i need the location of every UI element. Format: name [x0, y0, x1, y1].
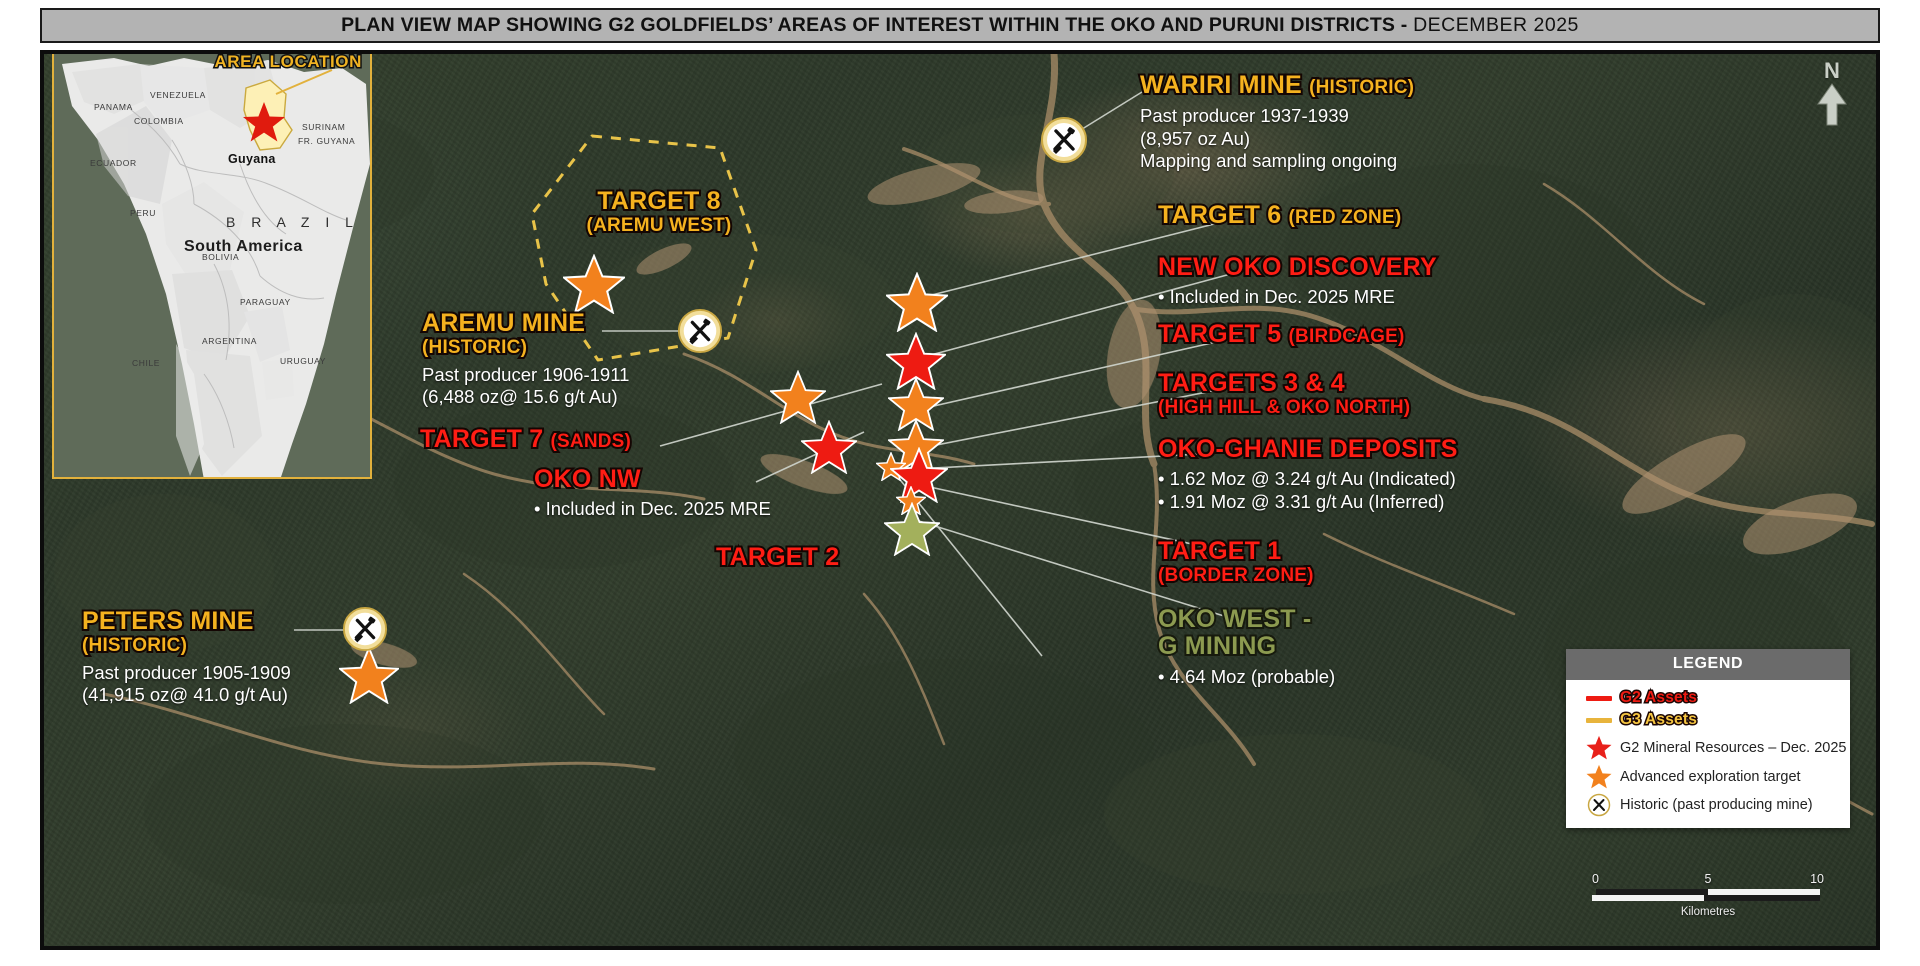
callout-okowest-title-l1: OKO WEST - [1158, 606, 1335, 632]
inset-heading: AREA LOCATION [214, 52, 362, 72]
inset-label-guyana: Guyana [228, 152, 276, 166]
callout-target-2: TARGET 2 [716, 544, 839, 570]
legend-item-historic-mine[interactable]: Historic (past producing mine) [1578, 793, 1838, 817]
callout-oko-nw: OKO NW • Included in Dec. 2025 MRE [534, 466, 771, 521]
scale-bar-bars [1592, 889, 1824, 903]
inset-basemap [54, 50, 370, 477]
inset-country-fr-guyana: FR. GUYANA [298, 136, 355, 146]
callout-oko-ghanie-deposits: OKO-GHANIE DEPOSITS • 1.62 Moz @ 3.24 g/… [1158, 436, 1458, 513]
callout-targets-3-and-4: TARGETS 3 & 4 (HIGH HILL & OKO NORTH) [1158, 370, 1410, 418]
callout-target5-title: TARGET 5 [1158, 320, 1289, 348]
callout-wariri-title-row: WARIRI MINE (HISTORIC) [1140, 72, 1414, 98]
scale-bar-caption: Kilometres [1592, 906, 1824, 918]
legend-dash-red-icon [1578, 696, 1620, 701]
callout-peters-title: PETERS MINE [82, 608, 291, 634]
inset-country-argentina: ARGENTINA [202, 336, 257, 346]
callout-target-1: TARGET 1 (BORDER ZONE) [1158, 538, 1314, 586]
inset-label-south-america: South America [184, 238, 303, 256]
inset-country-uruguay: URUGUAY [280, 356, 326, 366]
star-target-8[interactable] [563, 254, 625, 314]
scale-bar-ticks: 0 5 10 [1592, 872, 1824, 887]
scale-seg-dark-bot [1704, 895, 1820, 901]
callout-target6-suffix: (RED ZONE) [1289, 207, 1402, 228]
callout-target7-title: TARGET 7 [420, 425, 551, 453]
legend-label-g2-assets: G2 Assets [1620, 689, 1697, 707]
callout-target8-title: TARGET 8 [534, 188, 784, 214]
callout-peters-subtitle: (HISTORIC) [82, 636, 291, 656]
callout-peters-mine: PETERS MINE (HISTORIC) Past producer 190… [82, 608, 291, 707]
callout-target1-subtitle: (BORDER ZONE) [1158, 566, 1314, 586]
historic-mine-pin-aremu[interactable] [677, 308, 723, 354]
legend-panel: LEGEND G2 Assets G3 Assets [1566, 649, 1850, 828]
inset-country-colombia: COLOMBIA [134, 116, 184, 126]
inset-south-america-svg [54, 50, 372, 479]
callout-new-oko-discovery: NEW OKO DISCOVERY • Included in Dec. 202… [1158, 254, 1437, 309]
callout-oko-west-g-mining: OKO WEST - G MINING • 4.64 Moz (probable… [1158, 606, 1335, 689]
north-letter: N [1812, 60, 1852, 82]
map-frame: AREA LOCATION PANAMA VENEZUELA COLOMBIA … [40, 50, 1880, 950]
callout-okoghanie-bullet1: • 1.62 Moz @ 3.24 g/t Au (Indicated) [1158, 468, 1458, 491]
scale-tick-10: 10 [1810, 872, 1824, 886]
callout-newoko-title: NEW OKO DISCOVERY [1158, 254, 1437, 280]
callout-okowest-title-l2: G MINING [1158, 633, 1335, 659]
callout-targets34-subtitle: (HIGH HILL & OKO NORTH) [1158, 398, 1410, 418]
north-arrow-icon [1816, 82, 1848, 126]
scale-tick-5: 5 [1705, 872, 1712, 886]
legend-body: G2 Assets G3 Assets G2 Mineral Resources… [1566, 680, 1850, 828]
page-title-main: PLAN VIEW MAP SHOWING G2 GOLDFIELDS’ ARE… [341, 14, 1413, 36]
star-peters-mine[interactable] [339, 646, 399, 704]
callout-target5-title-row: TARGET 5 (BIRDCAGE) [1158, 321, 1405, 347]
callout-okowest-bullet1: • 4.64 Moz (probable) [1158, 666, 1335, 689]
legend-dash-gold-icon [1578, 718, 1620, 723]
scale-bar: 0 5 10 Kilometres [1592, 872, 1824, 918]
page-title-date: DECEMBER 2025 [1413, 14, 1579, 36]
legend-historic-mine-pin-icon [1578, 793, 1620, 817]
inset-country-paraguay: PARAGUAY [240, 297, 291, 307]
callout-aremu-mine: AREMU MINE (HISTORIC) Past producer 1906… [422, 310, 629, 409]
scale-seg-light-bot [1592, 895, 1704, 901]
callout-aremu-line1: Past producer 1906-1911 [422, 364, 629, 387]
callout-okonw-title: OKO NW [534, 466, 771, 492]
callout-target7-suffix: (SANDS) [551, 431, 632, 452]
poster-title-bar: PLAN VIEW MAP SHOWING G2 GOLDFIELDS’ ARE… [40, 8, 1880, 43]
legend-item-g2-mineral-resources[interactable]: G2 Mineral Resources – Dec. 2025 [1578, 735, 1838, 760]
callout-okonw-bullet1: • Included in Dec. 2025 MRE [534, 498, 771, 521]
callout-target2-title: TARGET 2 [716, 544, 839, 570]
legend-item-g3-assets[interactable]: G3 Assets [1578, 709, 1838, 731]
page-title: PLAN VIEW MAP SHOWING G2 GOLDFIELDS’ ARE… [341, 14, 1579, 37]
callout-aremu-subtitle: (HISTORIC) [422, 338, 629, 358]
callout-wariri-line3: Mapping and sampling ongoing [1140, 150, 1414, 173]
callout-wariri-suffix: (HISTORIC) [1309, 77, 1414, 98]
star-target-7[interactable] [770, 370, 826, 424]
legend-item-g2-assets[interactable]: G2 Assets [1578, 687, 1838, 709]
callout-peters-line1: Past producer 1905-1909 [82, 662, 291, 685]
legend-star-red-icon [1578, 735, 1620, 760]
scale-tick-0: 0 [1592, 872, 1599, 886]
callout-wariri-line1: Past producer 1937-1939 [1140, 105, 1414, 128]
callout-peters-line2: (41,915 oz@ 41.0 g/t Au) [82, 684, 291, 707]
north-arrow: N [1812, 60, 1852, 132]
inset-country-ecuador: ECUADOR [90, 158, 137, 168]
callout-target-8: TARGET 8 (AREMU WEST) [534, 188, 784, 236]
callout-target8-subtitle: (AREMU WEST) [534, 216, 784, 236]
legend-star-orange-icon [1578, 764, 1620, 789]
inset-country-peru: PERU [130, 208, 156, 218]
historic-mine-pin-wariri[interactable] [1040, 116, 1088, 164]
callout-okoghanie-title: OKO-GHANIE DEPOSITS [1158, 436, 1458, 462]
callout-target1-title: TARGET 1 [1158, 538, 1314, 564]
historic-mine-pin-peters[interactable] [342, 606, 388, 652]
poster-root: PLAN VIEW MAP SHOWING G2 GOLDFIELDS’ ARE… [0, 0, 1920, 966]
callout-target6-title-row: TARGET 6 (RED ZONE) [1158, 202, 1401, 228]
callout-targets34-title: TARGETS 3 & 4 [1158, 370, 1410, 396]
callout-target-5: TARGET 5 (BIRDCAGE) [1158, 321, 1405, 347]
callout-aremu-title: AREMU MINE [422, 310, 629, 336]
callout-target7-title-row: TARGET 7 (SANDS) [420, 426, 631, 452]
inset-country-surinam: SURINAM [302, 122, 345, 132]
inset-label-brazil: B R A Z I L [226, 214, 359, 230]
legend-label-advanced-exploration-target: Advanced exploration target [1620, 769, 1801, 785]
legend-heading: LEGEND [1566, 649, 1850, 680]
star-oko-west-g-mining[interactable] [884, 502, 940, 556]
callout-target5-suffix: (BIRDCAGE) [1289, 326, 1405, 347]
legend-item-advanced-exploration-target[interactable]: Advanced exploration target [1578, 764, 1838, 789]
callout-wariri-mine: WARIRI MINE (HISTORIC) Past producer 193… [1140, 72, 1414, 173]
star-oko-nw[interactable] [801, 420, 857, 474]
callout-wariri-title: WARIRI MINE [1140, 71, 1309, 99]
inset-country-chile: CHILE [132, 358, 160, 368]
callout-target6-title: TARGET 6 [1158, 201, 1289, 229]
inset-location-map: AREA LOCATION PANAMA VENEZUELA COLOMBIA … [52, 50, 372, 479]
callout-target-6: TARGET 6 (RED ZONE) [1158, 202, 1401, 228]
legend-label-historic-mine: Historic (past producing mine) [1620, 797, 1813, 813]
callout-aremu-line2: (6,488 oz@ 15.6 g/t Au) [422, 386, 629, 409]
legend-label-g3-assets: G3 Assets [1620, 711, 1697, 729]
callout-newoko-bullet1: • Included in Dec. 2025 MRE [1158, 286, 1437, 309]
callout-okoghanie-bullet2: • 1.91 Moz @ 3.31 g/t Au (Inferred) [1158, 491, 1458, 514]
inset-country-venezuela: VENEZUELA [150, 90, 206, 100]
callout-target-7: TARGET 7 (SANDS) [420, 426, 631, 452]
callout-wariri-line2: (8,957 oz Au) [1140, 128, 1414, 151]
legend-label-g2-mineral-resources: G2 Mineral Resources – Dec. 2025 [1620, 740, 1846, 756]
inset-country-panama: PANAMA [94, 102, 133, 112]
star-target-6[interactable] [886, 272, 948, 332]
